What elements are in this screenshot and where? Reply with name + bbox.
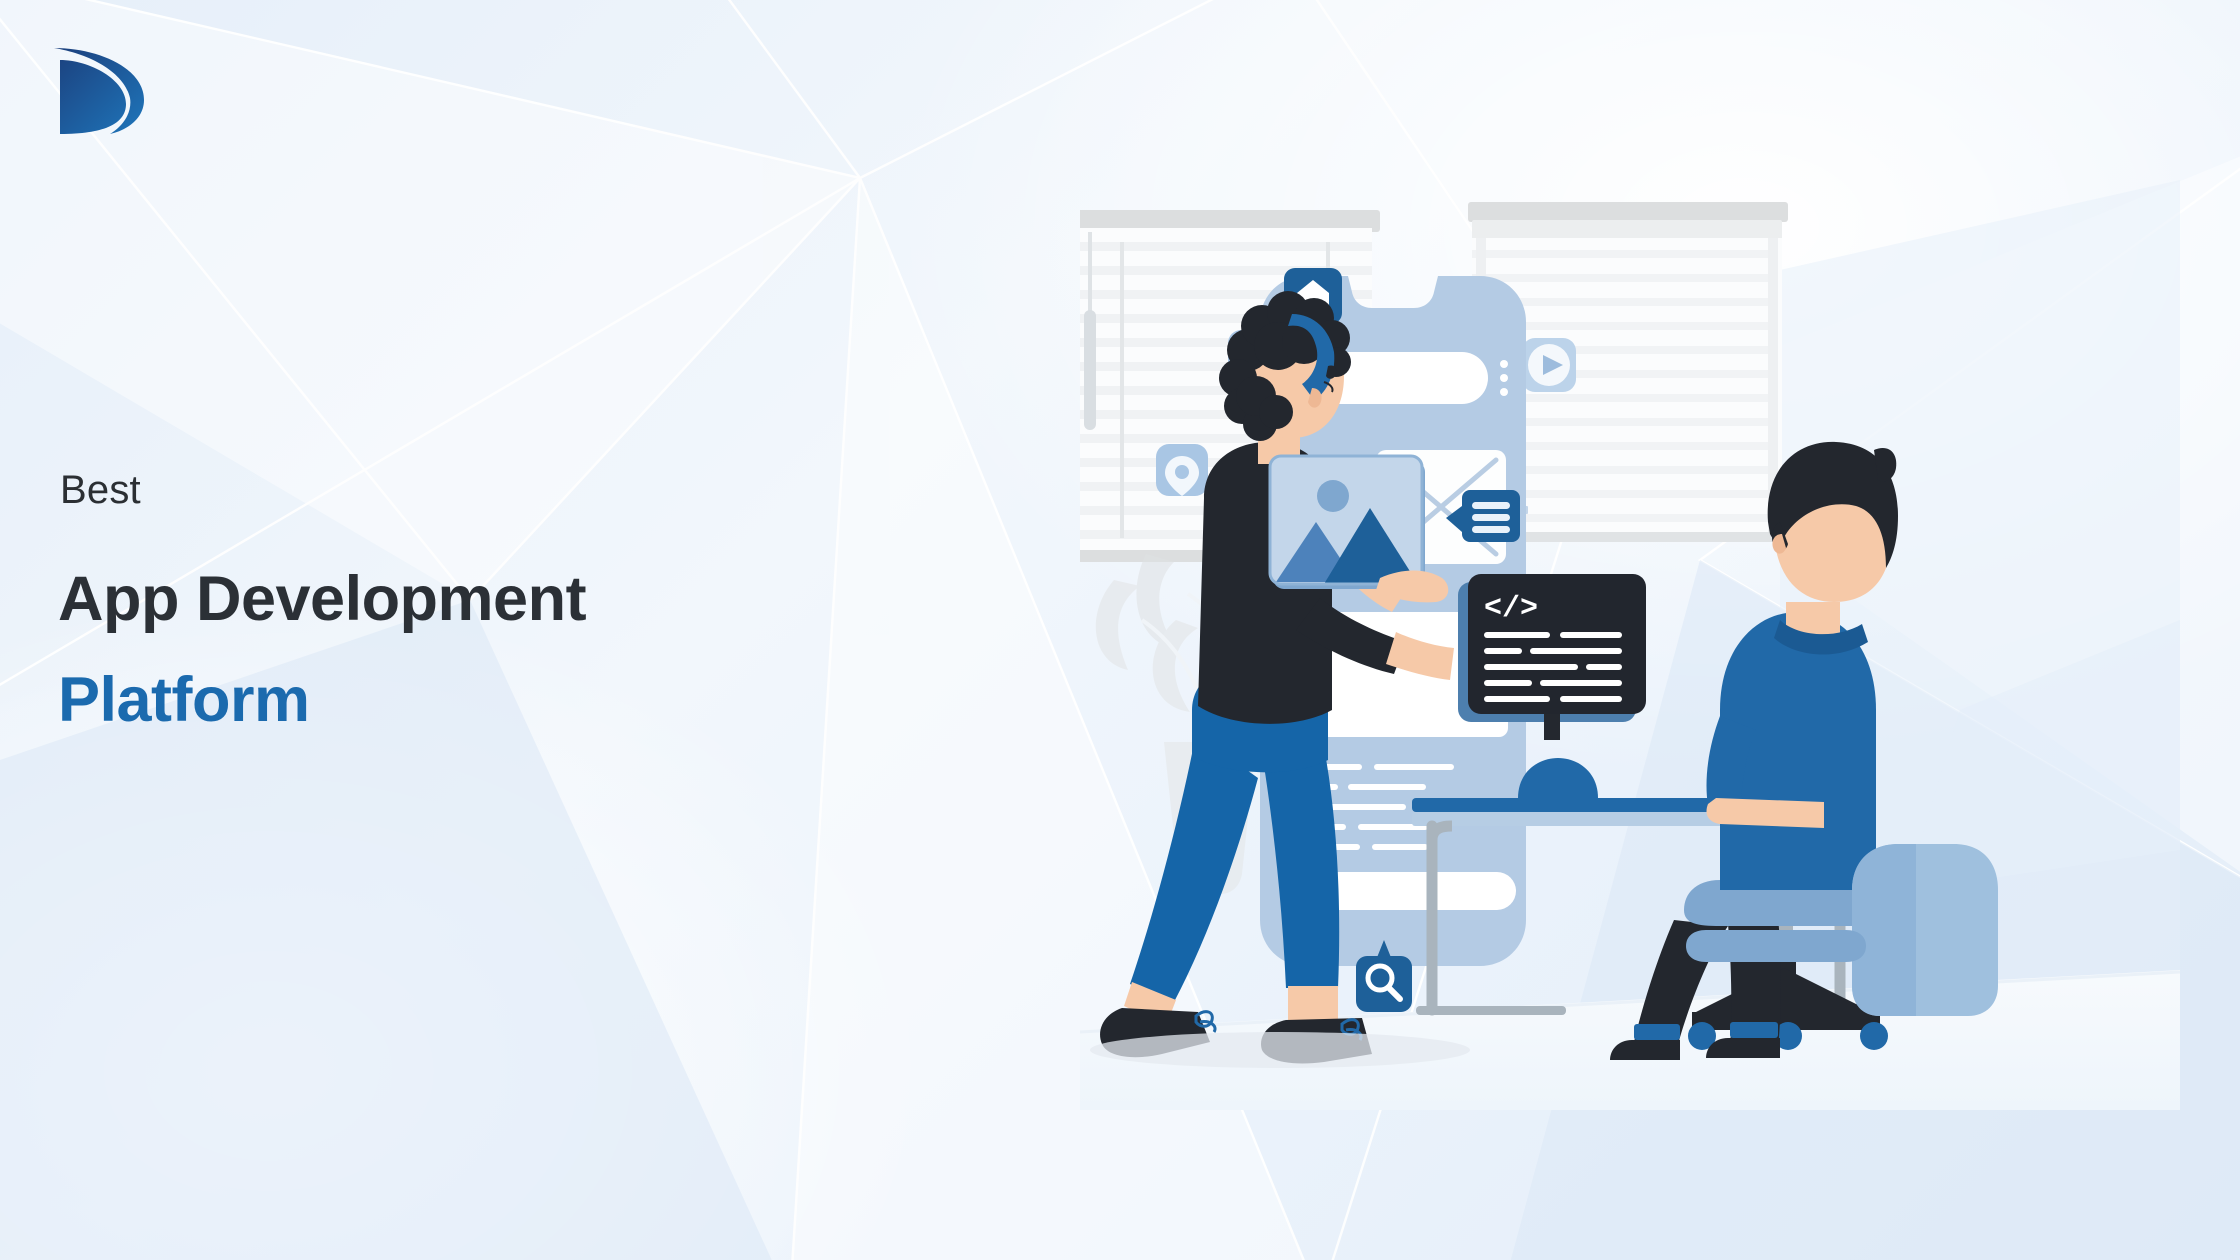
headline-accent: Platform: [58, 669, 958, 732]
ground-shadow: [1090, 1032, 1470, 1068]
letter-d-swoosh-logo: [54, 48, 144, 134]
play-button-icon[interactable]: [1522, 338, 1576, 392]
headline-block: Best App Development Platform: [58, 470, 958, 732]
phone-kebab-menu[interactable]: [1500, 360, 1508, 396]
brand-logo[interactable]: [52, 38, 148, 142]
chair-wheel: [1860, 1022, 1888, 1050]
headline-main: App Development: [58, 568, 958, 631]
ui-image-card[interactable]: [1270, 456, 1425, 589]
hero-banner: Best App Development Platform: [0, 0, 2240, 1260]
monitor-code-glyph: </>: [1484, 592, 1538, 626]
map-pin-icon[interactable]: [1156, 444, 1208, 496]
headline-kicker: Best: [60, 470, 958, 510]
hero-illustration: </>: [1080, 150, 2180, 1110]
